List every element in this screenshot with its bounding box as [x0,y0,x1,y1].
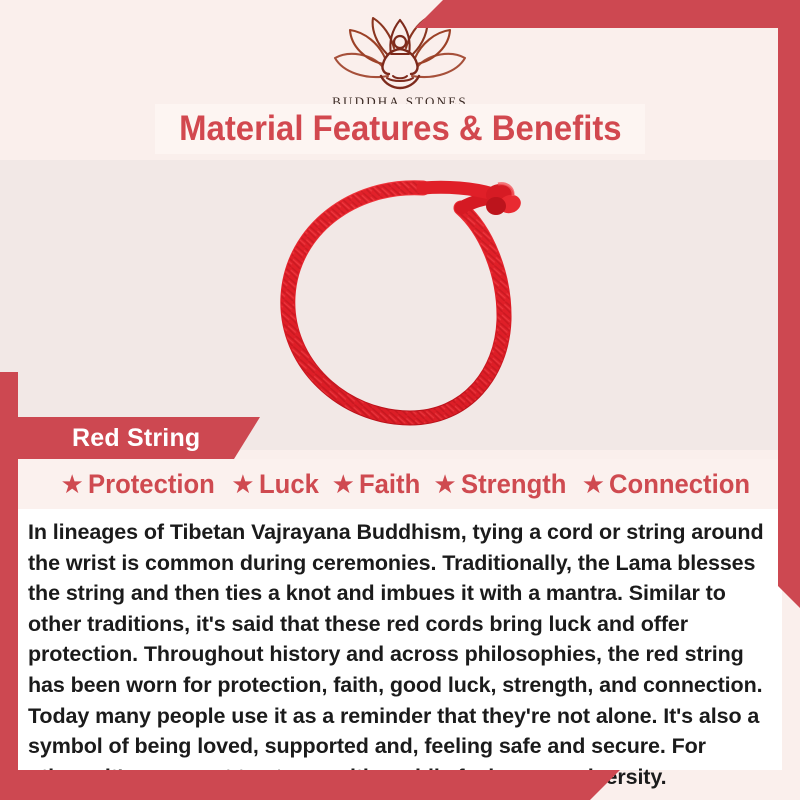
star-icon: ★ [582,471,605,497]
feature-item: ★ Connection [582,469,758,500]
description-panel: In lineages of Tibetan Vajrayana Buddhis… [18,509,782,770]
feature-item: ★ Strength [433,469,571,500]
star-icon: ★ [231,471,254,497]
feature-item: ★ Faith [332,469,424,500]
brand-logo: BUDDHA STONES [0,14,800,110]
star-icon: ★ [60,471,83,497]
product-image-band [0,160,800,450]
feature-label: Strength [461,469,566,500]
star-icon: ★ [433,471,456,497]
product-name-ribbon: Red String [18,417,260,459]
features-band: ★ Protection ★ Luck ★ Faith ★ Strength ★… [18,459,800,509]
page-title: Material Features & Benefits [179,109,621,149]
decor-bar-right [778,28,800,608]
decor-bar-left [0,372,18,800]
title-band: Material Features & Benefits [155,104,645,154]
star-icon: ★ [332,471,355,497]
feature-label: Protection [88,469,215,500]
red-braided-string-bracelet [248,168,548,438]
feature-label: Connection [609,469,750,500]
feature-label: Luck [259,469,319,500]
decor-bar-bottom-left [0,770,620,800]
feature-label: Faith [359,469,420,500]
product-name-label: Red String [18,424,200,453]
decor-bar-top-right [415,0,800,28]
feature-item: ★ Protection [60,469,221,500]
poster-root: ★ Protection ★ Luck ★ Faith ★ Strength ★… [0,0,800,800]
feature-item: ★ Luck [231,469,321,500]
description-text: In lineages of Tibetan Vajrayana Buddhis… [28,517,768,792]
